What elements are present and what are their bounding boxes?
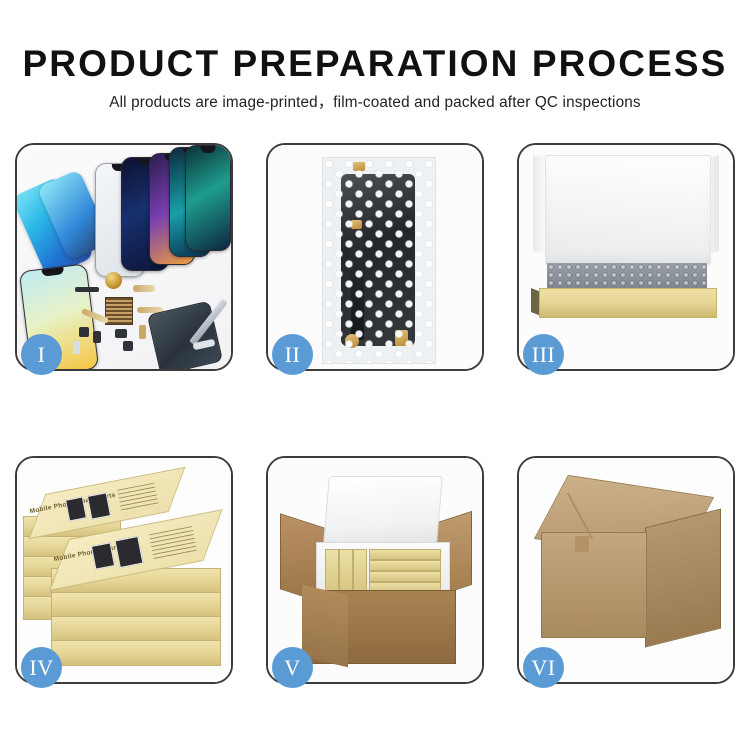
carton-front-face bbox=[541, 532, 647, 638]
inner-kraft-box bbox=[369, 560, 441, 571]
small-component-3 bbox=[115, 329, 127, 338]
inner-kraft-box bbox=[369, 571, 441, 582]
box-thumbnail bbox=[115, 536, 144, 568]
step-badge-3: III bbox=[523, 334, 564, 375]
step-badge-4: IV bbox=[21, 647, 62, 688]
kraft-box-layer bbox=[51, 616, 221, 642]
kraft-box-base bbox=[539, 288, 717, 318]
process-step-panel-5[interactable]: V bbox=[266, 456, 484, 684]
page-header: PRODUCT PREPARATION PROCESS All products… bbox=[0, 0, 750, 113]
bubble-texture bbox=[547, 263, 707, 291]
foam-lid bbox=[323, 476, 443, 544]
process-step-panel-6[interactable]: VI bbox=[517, 456, 735, 684]
small-component-2 bbox=[93, 331, 101, 343]
process-step-panel-4[interactable]: Mobile Phone Spare Parts Mobile Phone Sp… bbox=[15, 456, 233, 684]
page-subtitle: All products are image-printed，film-coat… bbox=[0, 86, 750, 113]
small-component-4 bbox=[123, 341, 133, 351]
box-lid-white bbox=[545, 155, 711, 265]
kraft-box-layer bbox=[51, 592, 221, 618]
inner-kraft-box bbox=[339, 549, 353, 593]
ic-chip-grid bbox=[105, 297, 133, 325]
process-step-grid: I II bbox=[15, 143, 735, 684]
step-badge-6: VI bbox=[523, 647, 564, 688]
camera-module bbox=[105, 272, 122, 289]
inner-kraft-box bbox=[325, 549, 339, 593]
kraft-box-stack: Mobile Phone Spare Parts Mobile Phone Sp… bbox=[23, 476, 229, 672]
step-badge-1: I bbox=[21, 334, 62, 375]
flex-cable bbox=[133, 285, 155, 292]
inner-kraft-box bbox=[353, 549, 367, 593]
carton-tape-lower bbox=[577, 610, 591, 626]
inner-kraft-box bbox=[369, 549, 441, 560]
kraft-box-layer bbox=[51, 640, 221, 666]
box-thumbnail bbox=[87, 492, 111, 519]
box-thumbnail bbox=[65, 496, 87, 521]
gold-pin bbox=[139, 325, 146, 339]
carton-side-face bbox=[645, 509, 721, 648]
bubble-wrap-package bbox=[322, 157, 436, 364]
small-component bbox=[79, 327, 89, 337]
bubble-texture bbox=[323, 158, 435, 363]
step-badge-2: II bbox=[272, 334, 313, 375]
notch-icon bbox=[201, 146, 216, 153]
notch-icon bbox=[42, 267, 65, 277]
step-badge-5: V bbox=[272, 647, 313, 688]
box-thumbnail bbox=[91, 542, 115, 569]
process-step-panel-3[interactable]: III bbox=[517, 143, 735, 371]
process-step-panel-1[interactable]: I bbox=[15, 143, 233, 371]
bubble-wrapped-contents bbox=[547, 263, 707, 291]
process-step-panel-2[interactable]: II bbox=[266, 143, 484, 371]
page-title: PRODUCT PREPARATION PROCESS bbox=[0, 0, 750, 86]
carton-tape-upper bbox=[575, 536, 589, 552]
sim-tray bbox=[73, 341, 80, 354]
screen-green bbox=[185, 145, 231, 251]
component-bar bbox=[75, 287, 99, 292]
